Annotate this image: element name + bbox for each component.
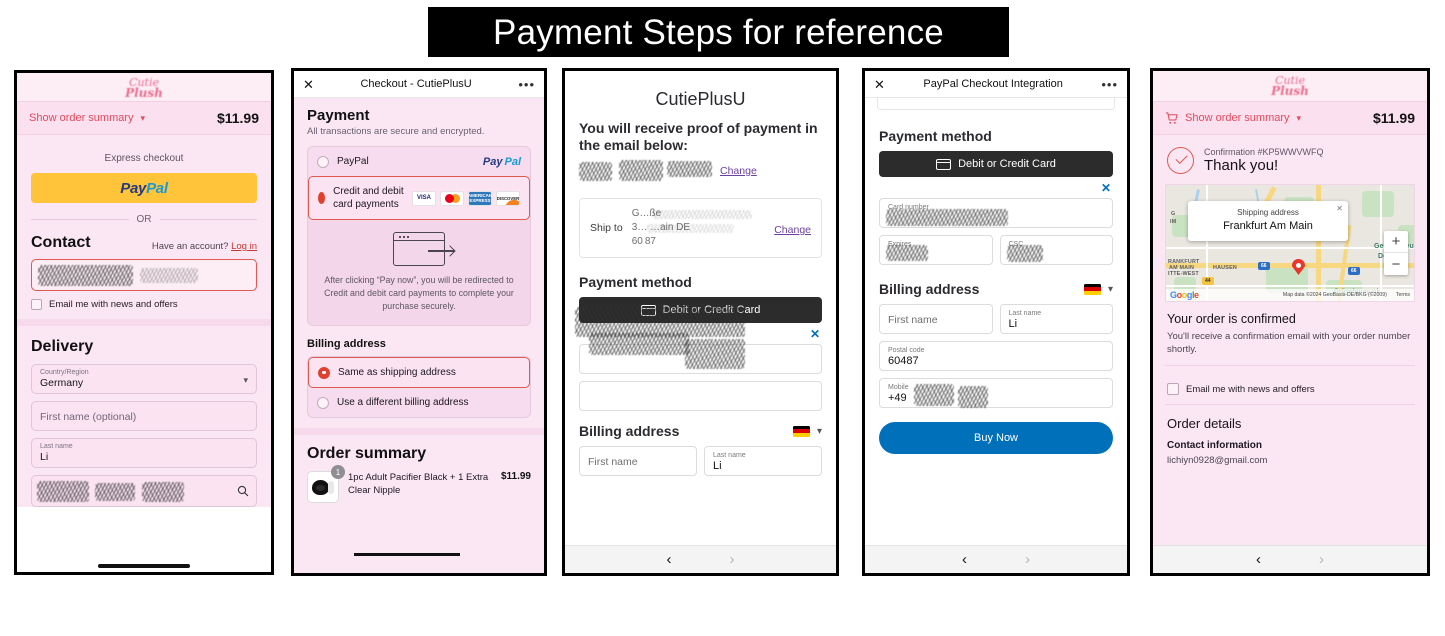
title-banner: Payment Steps for reference	[428, 7, 1009, 57]
store-logo-bar: Cutie Plush	[1153, 71, 1427, 101]
product-price: $11.99	[501, 471, 531, 482]
mobile-input[interactable]: Mobile +49	[879, 378, 1113, 408]
email-field[interactable]	[31, 259, 257, 291]
login-link[interactable]: Log in	[231, 241, 257, 252]
different-address-label: Use a different billing address	[337, 396, 469, 409]
zoom-in-button[interactable]: +	[1384, 231, 1408, 253]
webview-title: Checkout - CutiePlusU	[322, 78, 510, 90]
infowindow-title: Shipping address	[1196, 208, 1340, 217]
last-name-label: Last name	[1009, 309, 1105, 318]
country-value: Germany	[40, 377, 248, 390]
confirmation-header: Confirmation #KP5WWVWFQ Thank you!	[1153, 135, 1427, 184]
chevron-down-icon[interactable]: ▾	[817, 426, 822, 437]
back-button[interactable]: ‹	[667, 551, 672, 568]
radio-card[interactable]	[318, 192, 325, 204]
payment-option-card[interactable]: Credit and debit card payments VISA AMER…	[308, 176, 530, 220]
paypal-logo: PayPal	[483, 156, 521, 168]
cart-icon	[1165, 112, 1178, 125]
webview-titlebar: ✕ PayPal Checkout Integration •••	[865, 71, 1127, 98]
card-option-label: Credit and debit card payments	[333, 185, 404, 211]
order-details-block: Order details Contact information lichiy…	[1165, 404, 1415, 466]
first-name-input[interactable]: First name	[579, 446, 697, 476]
route-shield: 66	[1258, 262, 1270, 270]
partial-box-above	[877, 98, 1115, 110]
billing-options-box: Same as shipping address Use a different…	[307, 356, 531, 418]
postal-code-input[interactable]: Postal code 60487	[879, 341, 1113, 371]
logo-line-2: Plush	[125, 88, 163, 99]
payment-option-paypal[interactable]: PayPal PayPal	[308, 147, 530, 176]
close-icon[interactable]: ✕	[303, 78, 314, 91]
country-label: Country/Region	[40, 369, 248, 377]
browser-navbar: ‹ ›	[865, 545, 1127, 573]
newsletter-checkbox-row[interactable]: Email me with news and offers	[1153, 374, 1427, 395]
merchant-name: CutiePlusU	[579, 89, 822, 110]
postal-code-label: Postal code	[888, 346, 1104, 355]
panel-paypal-integration: ✕ PayPal Checkout Integration ••• Paymen…	[862, 68, 1130, 576]
german-flag-icon	[793, 426, 810, 437]
or-divider: OR	[31, 214, 257, 225]
more-icon[interactable]: •••	[518, 78, 535, 91]
account-text: Have an account?	[152, 241, 229, 252]
confirmation-number: Confirmation #KP5WWVWFQ	[1204, 147, 1324, 157]
card-expiry-input[interactable]: Expires	[879, 235, 993, 265]
home-indicator	[98, 564, 190, 568]
last-name-value: Li	[713, 460, 813, 473]
proof-of-payment-text: You will receive proof of payment in the…	[579, 120, 822, 154]
google-logo: Google	[1170, 290, 1199, 300]
store-logo: Cutie Plush	[1271, 75, 1309, 97]
chevron-down-icon: ▾	[1297, 113, 1302, 124]
redaction-strike	[354, 553, 460, 556]
order-line-item: 1 1pc Adult Pacifier Black + 1 Extra Cle…	[307, 471, 531, 503]
quantity-badge: 1	[331, 465, 345, 479]
visa-icon: VISA	[412, 191, 436, 206]
billing-option-same[interactable]: Same as shipping address	[308, 357, 530, 388]
order-confirmed-heading: Your order is confirmed	[1167, 312, 1413, 326]
banner-title: Payment Steps for reference	[493, 15, 944, 50]
forward-button[interactable]: ›	[1025, 551, 1030, 568]
chevron-down-icon: ▾	[243, 375, 248, 386]
browser-navbar: ‹ ›	[565, 545, 836, 573]
divider	[1165, 365, 1415, 366]
ship-to-box: Ship to G…ße 3… …ain DE 60 87 Change	[579, 198, 822, 258]
newsletter-checkbox[interactable]	[1167, 383, 1179, 395]
route-shield: 66	[1348, 267, 1360, 275]
radio-same-address[interactable]	[318, 367, 330, 379]
product-thumbnail: 1	[307, 471, 339, 503]
billing-address-heading: Billing address	[579, 423, 793, 439]
back-button[interactable]: ‹	[1256, 551, 1261, 568]
newsletter-checkbox-row[interactable]: Email me with news and offers	[31, 299, 257, 310]
search-icon[interactable]	[237, 484, 249, 502]
first-name-placeholder: First name	[888, 309, 984, 331]
back-button[interactable]: ‹	[962, 551, 967, 568]
card-number-input[interactable]: Card number	[879, 198, 1113, 228]
first-name-input[interactable]: First name (optional)	[31, 401, 257, 431]
amex-icon: AMERICANEXPRESS	[468, 191, 492, 206]
close-icon[interactable]: ✕	[881, 181, 1111, 195]
email-row: Change	[579, 158, 822, 184]
change-email-link[interactable]: Change	[720, 165, 757, 177]
webview-title: PayPal Checkout Integration	[893, 78, 1093, 90]
panel-payment-method: ✕ Checkout - CutiePlusU ••• Payment All …	[291, 68, 547, 576]
product-name: 1pc Adult Pacifier Black + 1 Extra Clear…	[348, 471, 492, 497]
panel-paypal-guest: CutiePlusU You will receive proof of pay…	[562, 68, 839, 576]
map-zoom-controls[interactable]: + −	[1384, 231, 1408, 275]
change-address-link[interactable]: Change	[774, 224, 811, 236]
billing-option-different[interactable]: Use a different billing address	[308, 388, 530, 417]
first-name-input[interactable]: First name	[879, 304, 993, 334]
contact-email: lichiyn0928@gmail.com	[1167, 455, 1413, 466]
payment-method-box: PayPal PayPal Credit and debit card paym…	[307, 146, 531, 326]
last-name-label: Last name	[713, 451, 813, 460]
last-name-input[interactable]: Last name Li	[1000, 304, 1114, 334]
show-order-summary-label: Show order summary	[1185, 112, 1290, 124]
zoom-out-button[interactable]: −	[1384, 253, 1408, 275]
debit-credit-card-button[interactable]: Debit or Credit Card	[879, 151, 1113, 177]
radio-different-address[interactable]	[317, 397, 329, 409]
more-icon[interactable]: •••	[1101, 78, 1118, 91]
forward-button[interactable]: ›	[1319, 551, 1324, 568]
map-label: IM	[1170, 219, 1176, 225]
order-total: $11.99	[217, 110, 259, 126]
buy-now-label: Buy Now	[974, 432, 1018, 444]
newsletter-label: Email me with news and offers	[1186, 384, 1315, 395]
or-label: OR	[137, 214, 152, 225]
german-flag-icon	[1084, 284, 1101, 295]
first-name-placeholder: First name	[588, 451, 688, 473]
country-region-select[interactable]: Country/Region Germany ▾	[31, 364, 257, 394]
map-label: HAUSEN	[1213, 265, 1237, 271]
card-csc-input[interactable]: CSC	[1000, 235, 1114, 265]
thank-you-heading: Thank you!	[1204, 157, 1324, 174]
map-attribution: Map data ©2024 GeoBasis-DE/BKG (©2009)	[1283, 292, 1387, 298]
account-prompt: Have an account? Log in	[152, 241, 257, 252]
payment-heading: Payment	[307, 107, 531, 124]
contact-heading: Contact	[31, 234, 91, 252]
redirect-window-icon	[393, 232, 445, 266]
express-checkout-label: Express checkout	[31, 153, 257, 164]
paypal-option-label: PayPal	[337, 155, 369, 168]
map-terms-link[interactable]: Terms	[1396, 292, 1410, 298]
logo-line-2: Plush	[1271, 86, 1309, 97]
infowindow-value: Frankfurt Am Main	[1196, 220, 1340, 232]
screenshot-root: Payment Steps for reference Cutie Plush …	[0, 0, 1445, 636]
paypal-express-button[interactable]: PayPal	[31, 173, 257, 203]
credit-card-icon	[936, 159, 951, 170]
payment-method-heading: Payment method	[579, 274, 822, 290]
billing-address-heading: Billing address	[879, 281, 1084, 297]
radio-paypal[interactable]	[317, 156, 329, 168]
chevron-down-icon: ▾	[141, 113, 146, 124]
chevron-down-icon[interactable]: ▾	[1108, 284, 1113, 295]
shipping-map[interactable]: G IM GINNHEIM RANKFURT AM MAIN ITTE-WEST…	[1165, 184, 1415, 302]
discover-icon: DISCOVER	[496, 191, 520, 206]
last-name-value: Li	[1009, 318, 1105, 331]
forward-button[interactable]: ›	[730, 551, 735, 568]
billing-address-row: Billing address ▾	[579, 423, 822, 439]
ship-line-3: 60 87	[632, 236, 656, 247]
last-name-label: Last name	[40, 443, 248, 451]
map-infowindow[interactable]: ✕ Shipping address Frankfurt Am Main	[1188, 201, 1348, 241]
order-confirmed-text: You'll receive a confirmation email with…	[1167, 330, 1413, 356]
debit-credit-label: Debit or Credit Card	[958, 158, 1056, 170]
payment-subtext: All transactions are secure and encrypte…	[307, 126, 531, 137]
last-name-input[interactable]: Last name Li	[704, 446, 822, 476]
address-search-input[interactable]	[31, 475, 257, 507]
section-divider	[294, 428, 544, 435]
billing-address-row: Billing address ▾	[879, 281, 1113, 297]
ship-to-label: Ship to	[590, 222, 623, 234]
buy-now-button[interactable]: Buy Now	[879, 422, 1113, 454]
order-summary-heading: Order summary	[307, 445, 531, 463]
check-circle-icon	[1167, 147, 1194, 174]
same-address-label: Same as shipping address	[338, 366, 456, 379]
panel-order-confirmation: Cutie Plush Show order summary ▾ $11.99 …	[1150, 68, 1430, 576]
order-summary-toggle[interactable]: Show order summary ▾ $11.99	[17, 101, 271, 135]
browser-navbar: ‹ ›	[1153, 545, 1427, 573]
section-divider	[17, 319, 271, 326]
card-brand-icons: VISA AMERICANEXPRESS DISCOVER	[412, 191, 520, 206]
newsletter-label: Email me with news and offers	[49, 299, 178, 310]
last-name-input[interactable]: Last name Li	[31, 438, 257, 468]
store-logo-bar: Cutie Plush	[17, 73, 271, 101]
map-footer: Google Map data ©2024 GeoBasis-DE/BKG (©…	[1166, 289, 1414, 301]
webview-titlebar: ✕ Checkout - CutiePlusU •••	[294, 71, 544, 98]
newsletter-checkbox[interactable]	[31, 299, 42, 310]
billing-address-heading: Billing address	[307, 338, 531, 350]
postal-code-value: 60487	[888, 355, 1104, 368]
paypal-logo: PayPal	[120, 180, 167, 197]
order-total: $11.99	[1373, 110, 1415, 126]
contact-information-heading: Contact information	[1167, 440, 1413, 451]
close-icon[interactable]: ✕	[874, 78, 885, 91]
panel-checkout-contact: Cutie Plush Show order summary ▾ $11.99 …	[14, 70, 274, 575]
map-label: G	[1171, 211, 1175, 217]
map-label: ITTE-WEST	[1168, 271, 1199, 277]
contact-header: Contact Have an account? Log in	[31, 234, 257, 252]
delivery-heading: Delivery	[31, 338, 257, 356]
close-icon[interactable]: ✕	[1336, 204, 1343, 213]
last-name-value: Li	[40, 451, 248, 464]
route-shield: 44	[1202, 277, 1214, 285]
redirect-notice: After clicking “Pay now”, you will be re…	[308, 220, 530, 325]
order-summary-toggle[interactable]: Show order summary ▾ $11.99	[1153, 101, 1427, 135]
show-order-summary-label: Show order summary	[29, 112, 134, 124]
card-expiry-csc-input[interactable]	[579, 381, 822, 411]
payment-method-heading: Payment method	[879, 128, 1113, 144]
mastercard-icon	[440, 191, 464, 206]
store-logo: Cutie Plush	[125, 77, 163, 99]
redirect-text: After clicking “Pay now”, you will be re…	[322, 274, 516, 313]
order-confirmed-block: Your order is confirmed You'll receive a…	[1153, 302, 1427, 365]
first-name-placeholder: First name (optional)	[40, 406, 248, 428]
map-pin-icon	[1292, 259, 1305, 275]
order-details-heading: Order details	[1167, 416, 1413, 431]
